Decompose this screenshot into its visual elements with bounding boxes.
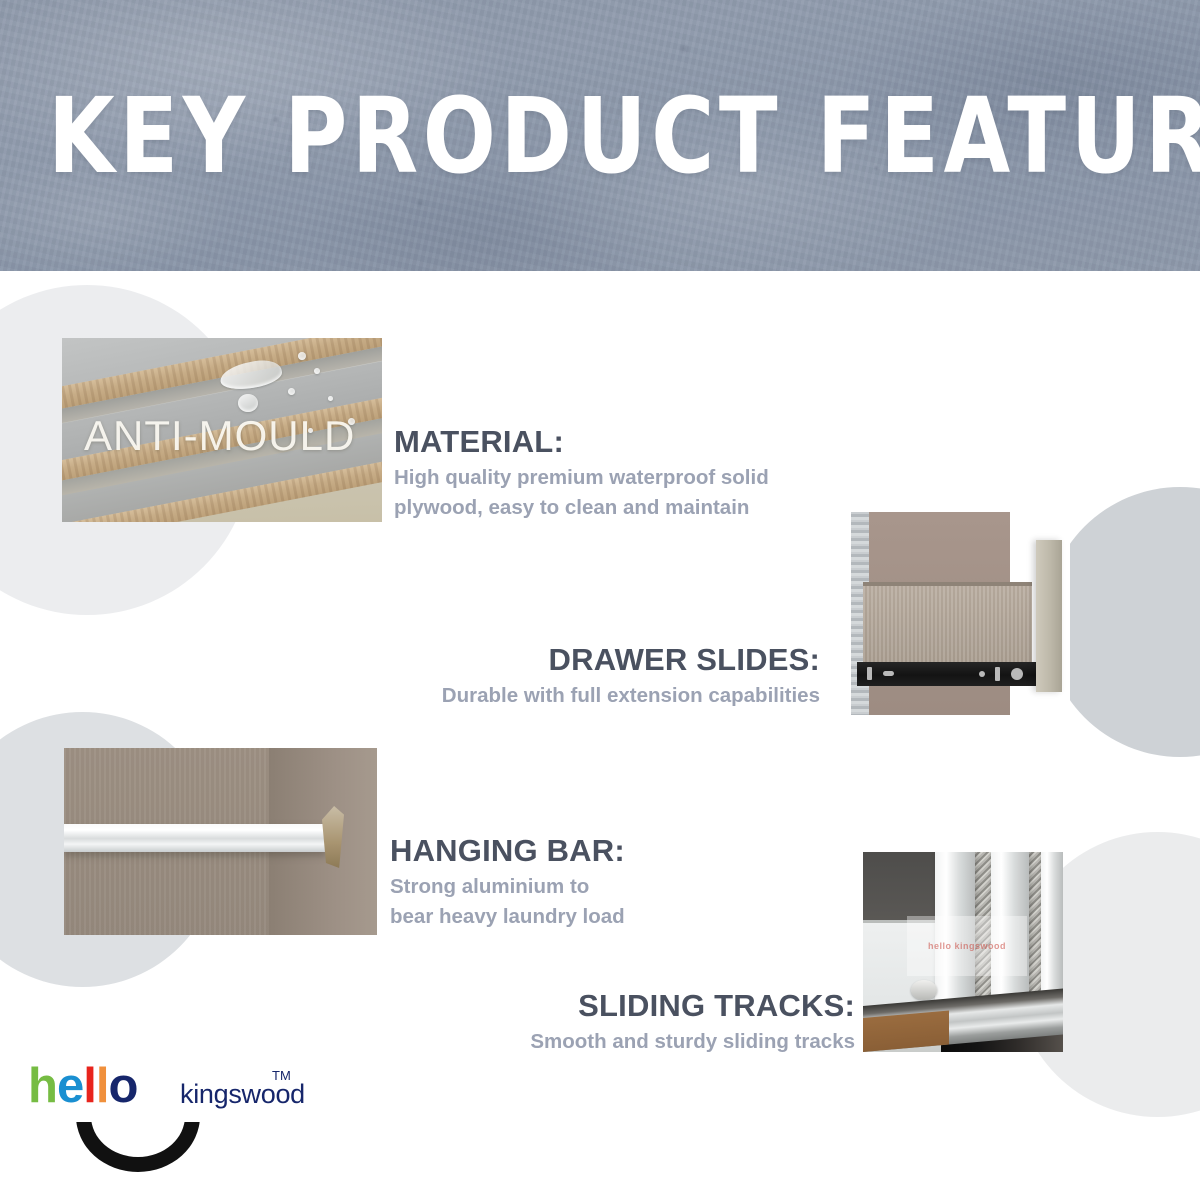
page-title: KEY PRODUCT FEATURES bbox=[48, 84, 1152, 188]
plywood-edge-photo: ANTI-MOULD bbox=[62, 338, 382, 522]
brand-logo[interactable]: hello kingswood TM bbox=[28, 1062, 308, 1162]
feature-description-drawer-slides: Durable with full extension capabilities bbox=[300, 683, 820, 709]
logo-letter-h: h bbox=[28, 1059, 57, 1113]
logo-letter-o: o bbox=[108, 1059, 137, 1113]
drawer-slide-rail bbox=[857, 662, 1042, 686]
logo-letter-l-orange: l bbox=[96, 1059, 109, 1113]
hanging-bar-photo bbox=[64, 748, 377, 935]
rail-detail bbox=[867, 667, 872, 680]
roller-wheel bbox=[911, 980, 937, 1000]
rail-detail bbox=[883, 671, 894, 676]
feature-text-material: MATERIAL: High quality premium waterproo… bbox=[394, 424, 769, 521]
anti-mould-overlay-label: ANTI-MOULD bbox=[84, 412, 355, 460]
feature-heading-hanging-bar: HANGING BAR: bbox=[390, 833, 625, 870]
water-droplet bbox=[328, 396, 333, 401]
water-droplet bbox=[298, 352, 306, 360]
logo-trademark-symbol: TM bbox=[272, 1068, 291, 1083]
feature-heading-sliding-tracks: SLIDING TRACKS: bbox=[330, 988, 855, 1025]
rail-detail bbox=[979, 671, 985, 677]
water-droplet bbox=[314, 368, 320, 374]
feature-heading-drawer-slides: DRAWER SLIDES: bbox=[300, 642, 820, 679]
drawer-box bbox=[863, 582, 1032, 664]
logo-letter-l-red: l bbox=[83, 1059, 96, 1113]
logo-wordmark-hello: hello bbox=[28, 1062, 137, 1111]
feature-text-drawer-slides: DRAWER SLIDES: Durable with full extensi… bbox=[300, 642, 820, 709]
logo-brand-name: kingswood bbox=[180, 1079, 305, 1110]
logo-smile-icon bbox=[76, 1122, 200, 1176]
page-header: KEY PRODUCT FEATURES bbox=[0, 0, 1200, 271]
feature-description-hanging-bar-line1: Strong aluminium to bbox=[390, 874, 625, 900]
rail-detail bbox=[995, 667, 1000, 681]
drawer-front-panel bbox=[1036, 540, 1062, 692]
sliding-door-panel bbox=[1041, 852, 1063, 1010]
logo-letter-e: e bbox=[57, 1059, 83, 1113]
feature-text-hanging-bar: HANGING BAR: Strong aluminium to bear he… bbox=[390, 833, 625, 930]
water-droplet bbox=[238, 394, 258, 412]
aluminium-hanging-rail bbox=[64, 824, 326, 852]
feature-description-hanging-bar-line2: bear heavy laundry load bbox=[390, 904, 625, 930]
feature-description-material-line1: High quality premium waterproof solid bbox=[394, 465, 769, 491]
watermark-text: hello kingswood bbox=[928, 941, 1006, 951]
feature-heading-material: MATERIAL: bbox=[394, 424, 769, 461]
water-droplet bbox=[288, 388, 295, 395]
rail-detail bbox=[1011, 668, 1023, 680]
drawer-slide-photo bbox=[825, 512, 1070, 715]
watermark-hello-kingswood: hello kingswood bbox=[907, 916, 1027, 976]
feature-description-sliding-tracks: Smooth and sturdy sliding tracks bbox=[330, 1029, 855, 1055]
feature-text-sliding-tracks: SLIDING TRACKS: Smooth and sturdy slidin… bbox=[330, 988, 855, 1055]
feature-description-material-line2: plywood, easy to clean and maintain bbox=[394, 495, 769, 521]
sliding-track-photo: hello kingswood bbox=[863, 852, 1063, 1052]
